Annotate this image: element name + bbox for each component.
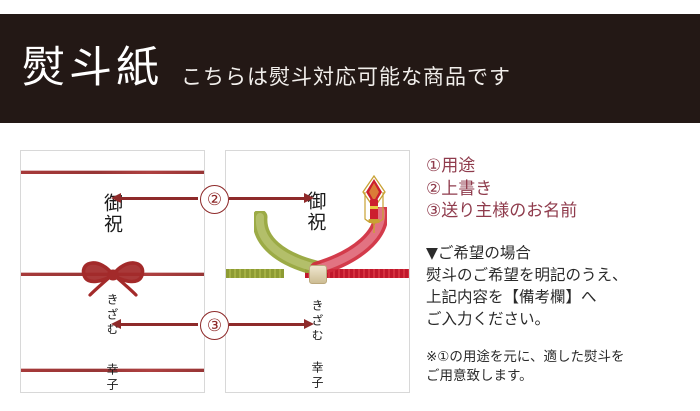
arrow-right-sender-name bbox=[229, 323, 305, 326]
page-header: 熨斗紙 こちらは熨斗対応可能な商品です bbox=[0, 14, 700, 123]
photo-noshi-card: 御祝 bbox=[225, 150, 410, 393]
request-line-1: 熨斗のご希望を明記のうえ、 bbox=[426, 264, 690, 286]
footnote-line-1: ※①の用途を元に、適した熨斗を bbox=[426, 348, 690, 368]
mizuhiki-bow-icon bbox=[70, 251, 156, 299]
marker-sender-name: ③ bbox=[200, 311, 229, 340]
required-item-uwagaki: ②上書き bbox=[426, 178, 690, 201]
sender-name-line2: 幸子 bbox=[105, 363, 119, 393]
required-item-sender-name: ③送り主様のお名前 bbox=[426, 200, 690, 223]
noshi-info-page: 熨斗紙 こちらは熨斗対応可能な商品です 御祝 bbox=[0, 0, 700, 411]
instructions-panel: ①用途 ②上書き ③送り主様のお名前 ▼ご希望の場合 熨斗のご希望を明記のうえ、… bbox=[426, 155, 690, 387]
top-white-strip bbox=[0, 0, 700, 14]
noshi-ornament-icon bbox=[361, 175, 387, 237]
request-line-3: ご入力ください。 bbox=[426, 308, 690, 330]
noshi-rule-top bbox=[21, 171, 204, 174]
arrow-left-sender-name bbox=[120, 323, 198, 326]
page-body: 御祝 きざむ 幸子 御祝 bbox=[0, 123, 700, 411]
page-title: 熨斗紙 bbox=[22, 47, 163, 90]
request-heading: ▼ご希望の場合 bbox=[426, 242, 690, 264]
sender-name-simple: きざむ 幸子 bbox=[104, 293, 121, 393]
sender-name-real: きざむ 幸子 bbox=[309, 299, 326, 391]
marker-uwagaki: ② bbox=[200, 185, 229, 214]
sender-name-real-line2: 幸子 bbox=[310, 361, 324, 391]
request-instructions: ▼ご希望の場合 熨斗のご希望を明記のうえ、 上記内容を【備考欄】へ ご入力くださ… bbox=[426, 242, 690, 330]
arrow-left-uwagaki bbox=[120, 197, 198, 200]
footnote-block: ※①の用途を元に、適した熨斗を ご用意致します。 bbox=[426, 348, 690, 387]
sender-name-line1: きざむ bbox=[105, 293, 119, 338]
required-items-list: ①用途 ②上書き ③送り主様のお名前 bbox=[426, 155, 690, 223]
arrow-right-uwagaki bbox=[229, 197, 305, 200]
page-subtitle: こちらは熨斗対応可能な商品です bbox=[181, 61, 511, 91]
required-item-purpose: ①用途 bbox=[426, 155, 690, 178]
request-line-2: 上記内容を【備考欄】へ bbox=[426, 286, 690, 308]
mizuhiki-knot bbox=[309, 265, 327, 284]
footnote-line-2: ご用意致します。 bbox=[426, 367, 690, 387]
line-art-noshi-card: 御祝 きざむ 幸子 bbox=[20, 150, 205, 393]
